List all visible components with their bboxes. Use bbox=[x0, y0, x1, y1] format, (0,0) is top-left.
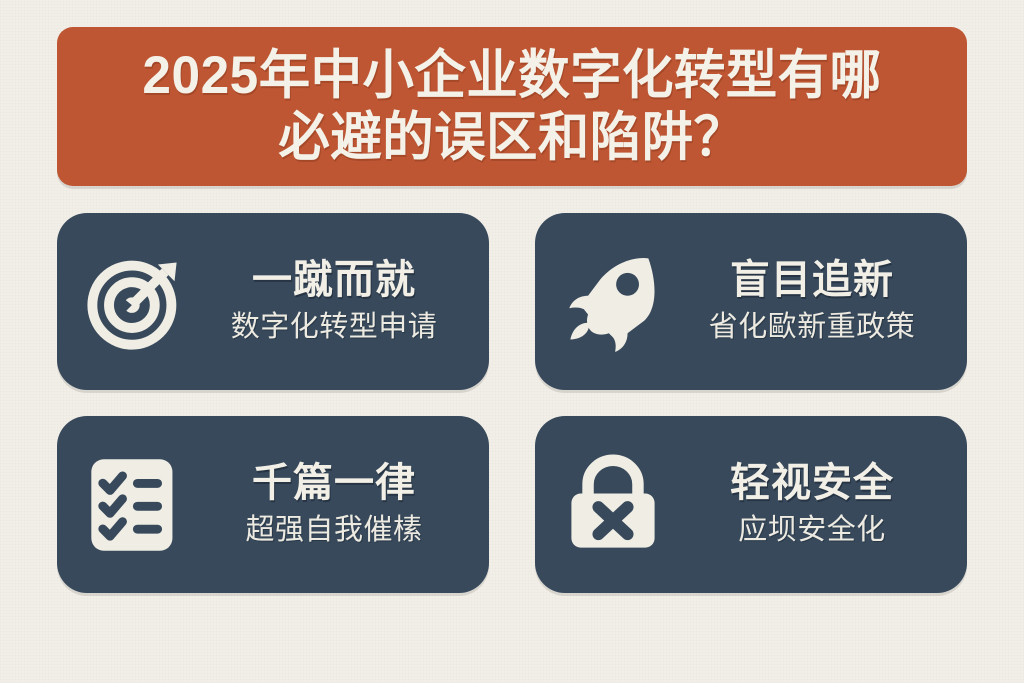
target-icon bbox=[83, 250, 187, 354]
checklist-icon bbox=[83, 453, 187, 557]
pitfall-card-grid: 一蹴而就 数字化转型申请 盲目追新 省化歐新重政策 bbox=[57, 213, 967, 593]
pitfall-card-3[interactable]: 千篇一律 超强自我催榡 bbox=[57, 416, 489, 593]
card-text-block: 千篇一律 超强自我催榡 bbox=[201, 462, 467, 546]
card-title: 一蹴而就 bbox=[252, 259, 416, 302]
lock-x-icon bbox=[561, 453, 665, 557]
card-text-block: 一蹴而就 数字化转型申请 bbox=[201, 259, 467, 343]
pitfall-card-2[interactable]: 盲目追新 省化歐新重政策 bbox=[535, 213, 967, 390]
page-title: 2025年中小企业数字化转型有哪 必避的误区和陷阱？ bbox=[142, 45, 881, 168]
rocket-icon bbox=[561, 250, 665, 354]
card-subtitle: 省化歐新重政策 bbox=[709, 312, 916, 344]
card-subtitle: 超强自我催榡 bbox=[245, 515, 422, 547]
infographic-poster: 2025年中小企业数字化转型有哪 必避的误区和陷阱？ 一蹴而就 bbox=[0, 0, 1024, 683]
card-title: 千篇一律 bbox=[252, 462, 416, 505]
header-banner: 2025年中小企业数字化转型有哪 必避的误区和陷阱？ bbox=[57, 27, 967, 186]
pitfall-card-4[interactable]: 轻视安全 应坝安全化 bbox=[535, 416, 967, 593]
card-subtitle: 数字化转型申请 bbox=[231, 312, 438, 344]
card-text-block: 盲目追新 省化歐新重政策 bbox=[679, 259, 945, 343]
card-title: 轻视安全 bbox=[730, 462, 894, 505]
card-subtitle: 应坝安全化 bbox=[738, 515, 886, 547]
card-text-block: 轻视安全 应坝安全化 bbox=[679, 462, 945, 546]
card-title: 盲目追新 bbox=[730, 259, 894, 302]
pitfall-card-1[interactable]: 一蹴而就 数字化转型申请 bbox=[57, 213, 489, 390]
